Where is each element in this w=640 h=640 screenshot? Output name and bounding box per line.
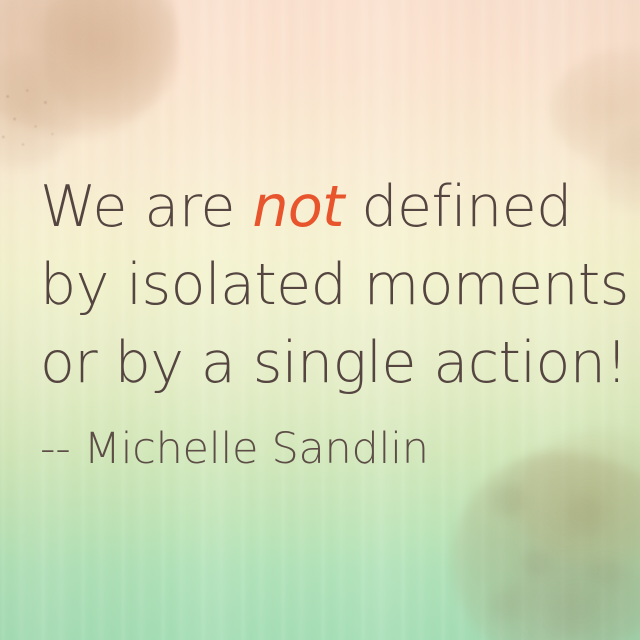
attribution: -- Michelle Sandlin [40,424,429,474]
quote-line-3-text: or by a single action! [40,330,628,396]
quote-card: We are not defined by isolated moments o… [0,0,640,640]
quote-line-2-text: by isolated moments [40,252,629,318]
quote-line-1-before: We are [40,174,252,240]
quote-line-1: We are not defined [40,168,620,246]
quote-line-1-after: defined [344,174,572,240]
quote-line-3: or by a single action! [40,324,620,402]
quote-line-2: by isolated moments [40,246,620,324]
quote-text-block: We are not defined by isolated moments o… [40,168,620,402]
emphasized-word-not: not [252,174,344,240]
